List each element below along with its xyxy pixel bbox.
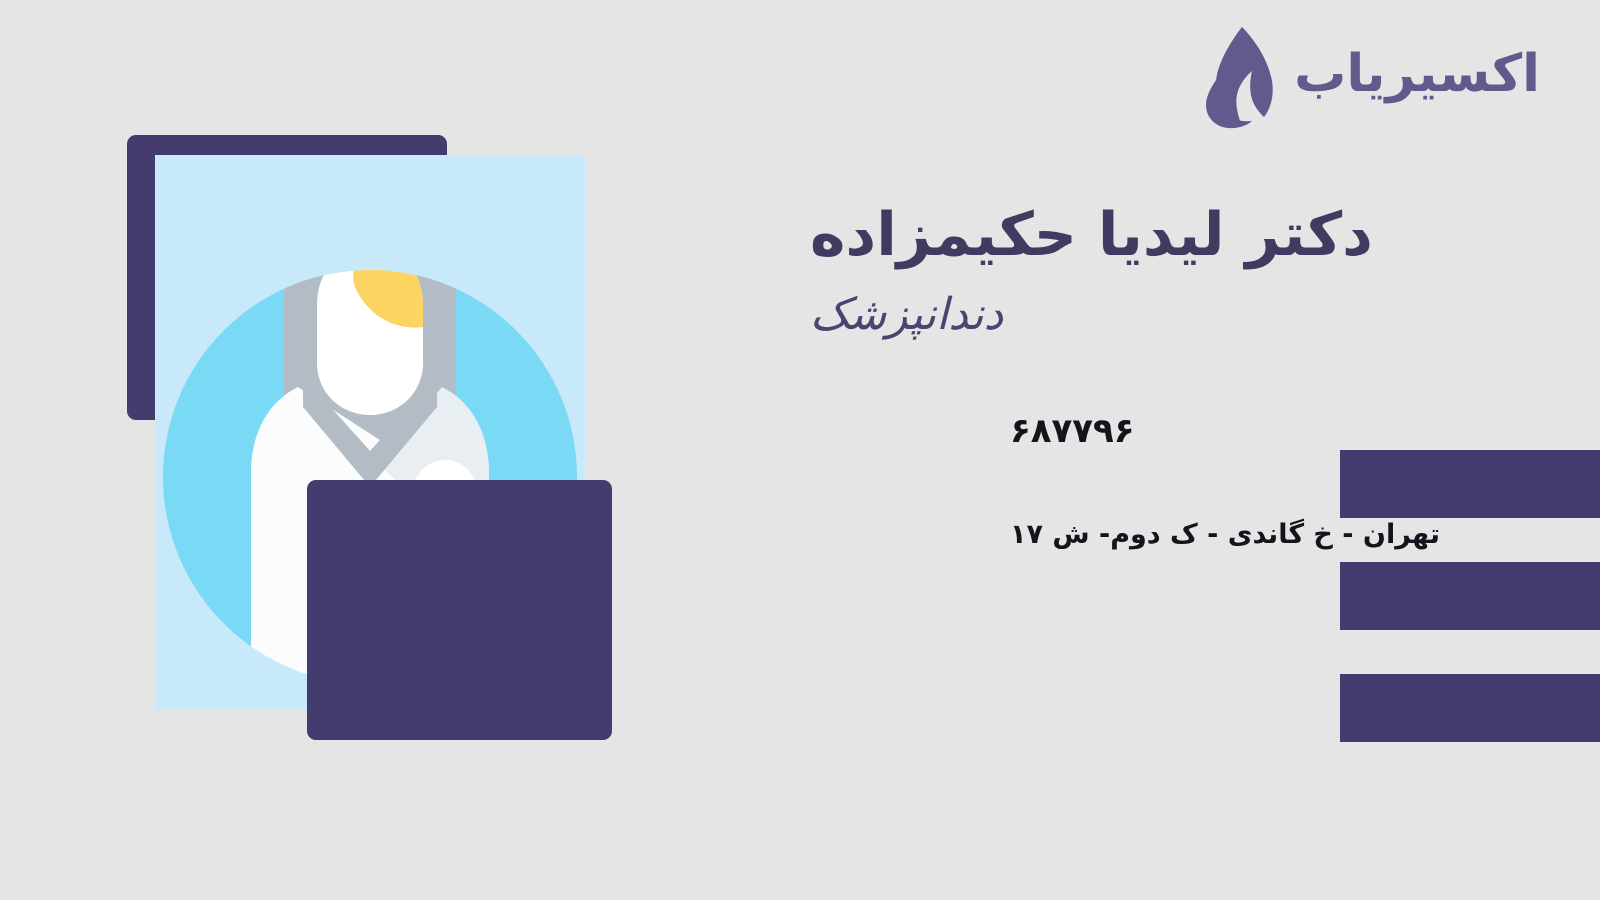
brand-wordmark: اکسیریاب (1294, 48, 1540, 100)
doctor-code: ۶۸۷۷۹۶ (810, 414, 1530, 448)
doctor-info: دکتر لیدیا حکیمزاده دندانپزشک ۶۸۷۷۹۶ تهر… (810, 200, 1530, 551)
doctor-specialty: دندانپزشک (810, 289, 1530, 342)
doctor-address: تهران - خ گاندی - ک دوم- ش ۱۷ (810, 518, 1530, 552)
doctor-name: دکتر لیدیا حکیمزاده (810, 200, 1530, 271)
decorative-bar-3 (1340, 674, 1600, 742)
doctor-profile-card: اکسیریاب (0, 0, 1600, 900)
decorative-bar-2 (1340, 562, 1600, 630)
decorative-frame-front (307, 480, 612, 740)
brand-logo: اکسیریاب (1194, 22, 1540, 132)
illustration-block (110, 120, 640, 760)
flame-drop-logo-icon (1194, 25, 1280, 129)
